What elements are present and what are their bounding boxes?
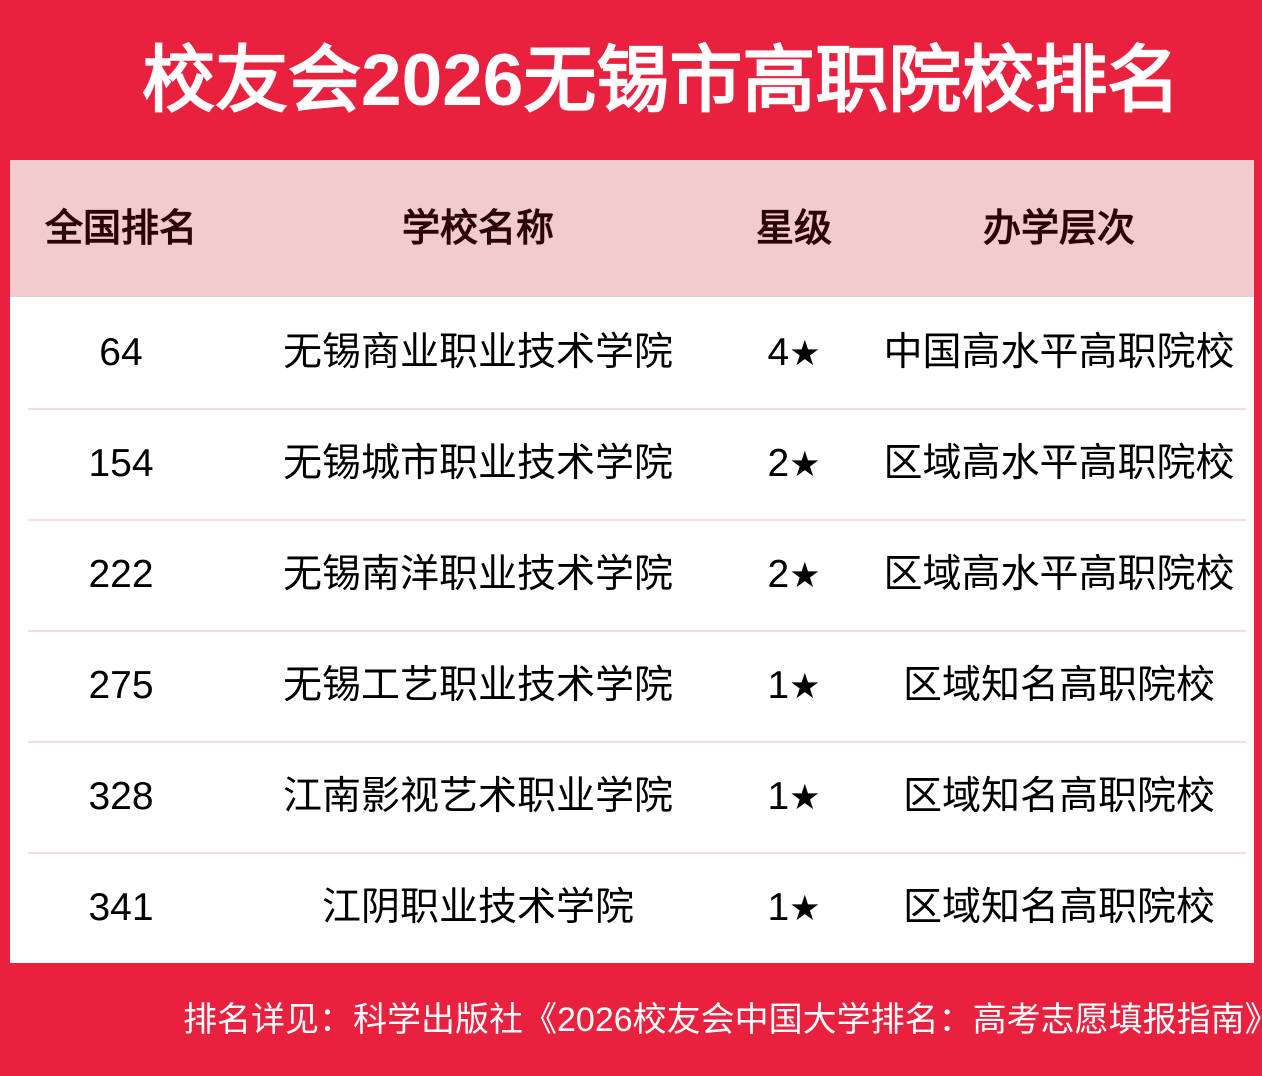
cell-level: 区域知名高职院校: [864, 666, 1254, 705]
star-icon: ★: [789, 778, 820, 818]
star-count: 1: [767, 886, 789, 929]
ranking-table: 全国排名 学校名称 星级 办学层次 64 无锡商业职业技术学院 4★ 中国高水平…: [10, 160, 1254, 963]
cell-level: 区域知名高职院校: [864, 888, 1254, 927]
cell-level: 区域高水平高职院校: [864, 444, 1254, 483]
title-banner: 校友会2026无锡市高职院校排名: [0, 0, 1262, 160]
cell-name: 无锡工艺职业技术学院: [232, 666, 724, 705]
cell-star: 1★: [724, 888, 864, 927]
cell-rank: 341: [10, 888, 232, 927]
cell-level: 中国高水平高职院校: [864, 333, 1254, 372]
star-count: 1: [767, 664, 789, 707]
star-icon: ★: [789, 334, 820, 374]
table-row: 64 无锡商业职业技术学院 4★ 中国高水平高职院校: [10, 297, 1254, 408]
table-header-row: 全国排名 学校名称 星级 办学层次: [10, 160, 1254, 297]
cell-level: 区域高水平高职院校: [864, 555, 1254, 594]
table-row: 275 无锡工艺职业技术学院 1★ 区域知名高职院校: [10, 630, 1254, 741]
cell-rank: 64: [10, 333, 232, 372]
cell-name: 江阴职业技术学院: [232, 888, 724, 927]
cell-name: 无锡商业职业技术学院: [232, 333, 724, 372]
star-icon: ★: [789, 667, 820, 707]
star-count: 2: [767, 553, 789, 596]
cell-level: 区域知名高职院校: [864, 777, 1254, 816]
table-row: 328 江南影视艺术职业学院 1★ 区域知名高职院校: [10, 741, 1254, 852]
cell-rank: 275: [10, 666, 232, 705]
table-row: 154 无锡城市职业技术学院 2★ 区域高水平高职院校: [10, 408, 1254, 519]
footer-note: 排名详见：科学出版社《2026校友会中国大学排名：高考志愿填报指南》: [183, 1003, 1262, 1037]
cell-name: 无锡城市职业技术学院: [232, 444, 724, 483]
column-header-level: 办学层次: [864, 210, 1254, 248]
cell-rank: 154: [10, 444, 232, 483]
column-header-rank: 全国排名: [10, 210, 232, 248]
cell-rank: 328: [10, 777, 232, 816]
column-header-name: 学校名称: [232, 210, 724, 248]
table-row: 222 无锡南洋职业技术学院 2★ 区域高水平高职院校: [10, 519, 1254, 630]
cell-rank: 222: [10, 555, 232, 594]
cell-star: 2★: [724, 444, 864, 483]
cell-name: 江南影视艺术职业学院: [232, 777, 724, 816]
cell-star: 1★: [724, 777, 864, 816]
table-body: 64 无锡商业职业技术学院 4★ 中国高水平高职院校 154 无锡城市职业技术学…: [10, 297, 1254, 963]
page-title: 校友会2026无锡市高职院校排名: [142, 44, 1180, 117]
cell-name: 无锡南洋职业技术学院: [232, 555, 724, 594]
star-count: 4: [767, 331, 789, 374]
cell-star: 1★: [724, 666, 864, 705]
star-icon: ★: [789, 556, 820, 596]
column-header-star: 星级: [724, 210, 864, 248]
table-row: 341 江阴职业技术学院 1★ 区域知名高职院校: [10, 852, 1254, 963]
cell-star: 2★: [724, 555, 864, 594]
footer-banner: 排名详见：科学出版社《2026校友会中国大学排名：高考志愿填报指南》: [0, 963, 1262, 1076]
ranking-infographic: 校友会2026无锡市高职院校排名 全国排名 学校名称 星级 办学层次 64 无锡…: [0, 0, 1262, 1076]
star-icon: ★: [789, 889, 820, 929]
cell-star: 4★: [724, 333, 864, 372]
star-count: 1: [767, 775, 789, 818]
star-count: 2: [767, 442, 789, 485]
star-icon: ★: [789, 445, 820, 485]
